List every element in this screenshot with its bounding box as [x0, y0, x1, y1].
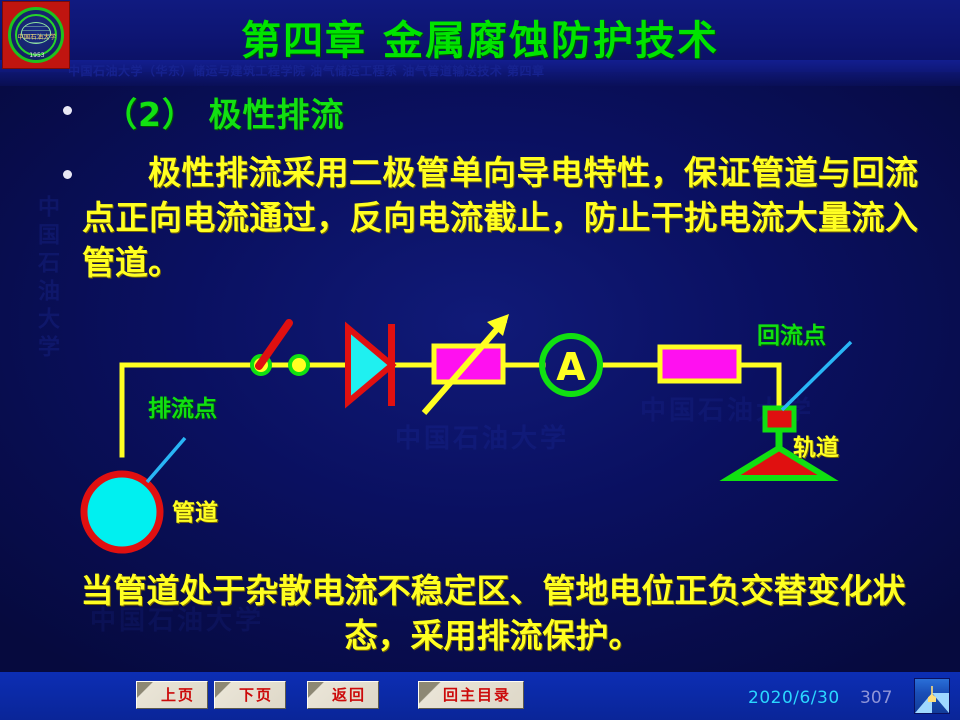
leader-return-point [782, 342, 851, 410]
ammeter-symbol: A [542, 336, 600, 394]
label-return-point: 回流点 [757, 316, 826, 350]
ammeter-label: A [556, 345, 586, 389]
pipeline-symbol [84, 474, 160, 550]
resistor-symbol [660, 347, 739, 381]
bullet-marker-2 [63, 170, 72, 179]
switch-terminal-right [290, 356, 308, 374]
back-button[interactable]: 返回 [307, 681, 379, 709]
circuit-diagram: A 排流点 管道 回流点 轨道 [0, 300, 960, 560]
resistor-body [660, 347, 739, 381]
footer-page-number: 307 [860, 688, 892, 708]
paragraph-1: 极性排流采用二极管单向导电特性，保证管道与回流点正向电流通过，反向电流截止，防止… [82, 150, 918, 285]
diode-triangle [348, 328, 392, 402]
label-drain-point: 排流点 [148, 389, 217, 423]
leader-drain-point [147, 438, 185, 482]
diode-cathode-bar [388, 324, 395, 406]
prev-page-button[interactable]: 上页 [136, 681, 208, 709]
rail-connector-box [765, 408, 794, 430]
label-rail: 轨道 [793, 428, 839, 462]
lamp-icon[interactable] [914, 678, 950, 714]
main-menu-button[interactable]: 回主目录 [418, 681, 524, 709]
next-page-button[interactable]: 下页 [214, 681, 286, 709]
lamp-icon-left-shape [915, 693, 932, 713]
footer-date: 2020/6/30 [748, 688, 840, 708]
rheostat-symbol [424, 314, 509, 413]
label-pipeline: 管道 [172, 493, 218, 527]
switch-lever [259, 323, 289, 366]
paragraph-2: 当管道处于杂散电流不稳定区、管地电位正负交替变化状态，采用排流保护。 [60, 568, 926, 658]
diode-symbol [348, 324, 395, 406]
bullet-marker-1 [63, 106, 72, 115]
lamp-icon-right-shape [932, 693, 949, 713]
bullet-1-label: （2） 极性排流 [104, 88, 344, 136]
pipeline-circle [84, 474, 160, 550]
slide-canvas: 中国石油大学 中国石油大学 中国石油大学 中国石油大学 中国石油大学（华东）储运… [0, 0, 960, 720]
page-title: 第四章 金属腐蚀防护技术 [0, 8, 960, 66]
